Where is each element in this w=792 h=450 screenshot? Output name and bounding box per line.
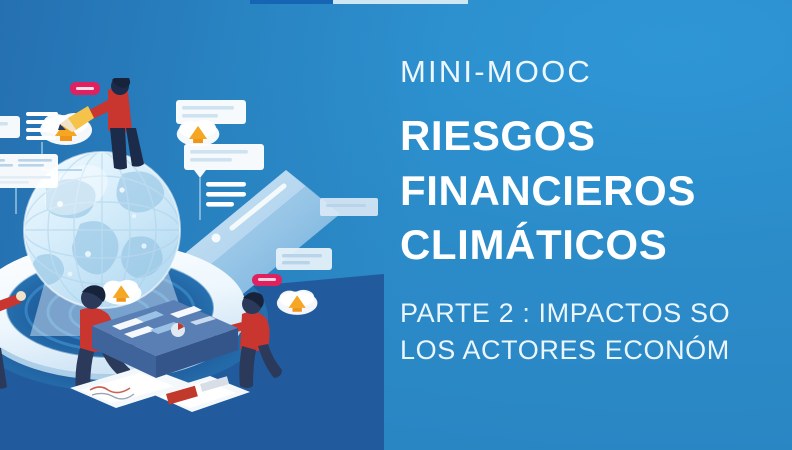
floating-panel-left-top <box>0 116 20 146</box>
cloud-icon <box>101 280 142 305</box>
floating-panel-right-lower <box>276 248 332 270</box>
slide-subtitle: PARTE 2 : IMPACTOS SO LOS ACTORES ECONÓM <box>400 295 792 370</box>
page-title: RIESGOS FINANCIEROS CLIMÁTICOS <box>400 109 792 273</box>
video-progress-fill <box>250 0 333 4</box>
slide-subtitle-line-1: PARTE 2 : IMPACTOS SO <box>400 295 792 332</box>
tag-badge <box>70 82 100 95</box>
slide-eyebrow: MINI-MOOC <box>400 56 792 87</box>
page-title-line-1: RIESGOS <box>400 109 792 164</box>
page-title-line-3: CLIMÁTICOS <box>400 218 792 273</box>
cloud-icon <box>177 120 220 146</box>
video-progress-bar[interactable] <box>250 0 468 4</box>
slide-text-block: MINI-MOOC RIESGOS FINANCIEROS CLIMÁTICOS… <box>400 56 792 369</box>
floating-panel-far-right <box>320 198 378 216</box>
course-title-slide: MINI-MOOC RIESGOS FINANCIEROS CLIMÁTICOS… <box>0 0 792 450</box>
floating-panel-right-mid <box>184 144 264 178</box>
page-title-line-2: FINANCIEROS <box>400 164 792 219</box>
slide-subtitle-line-2: LOS ACTORES ECONÓM <box>400 332 792 369</box>
hero-illustration <box>0 78 384 450</box>
cloud-icon <box>277 290 318 315</box>
